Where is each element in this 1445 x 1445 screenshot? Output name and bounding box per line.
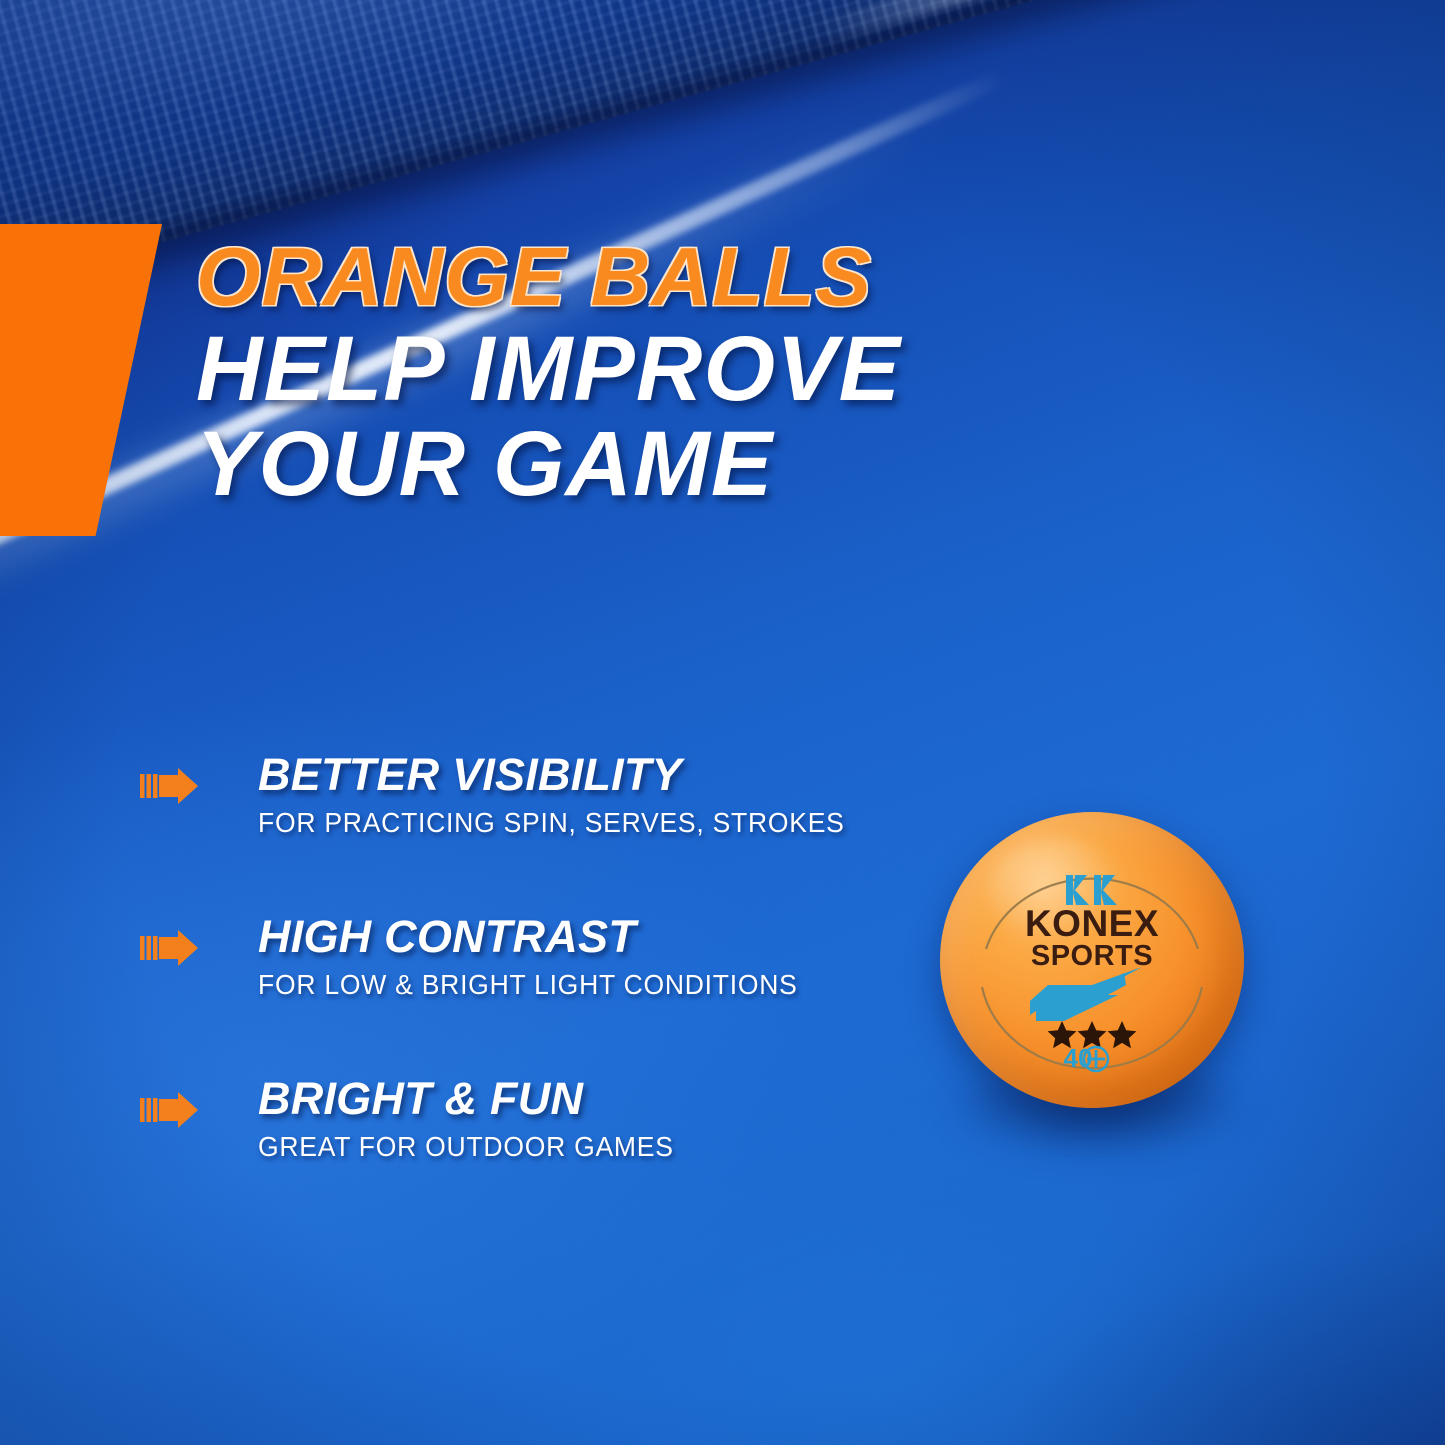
feature-item-bright-and-fun: BRIGHT & FUN GREAT FOR OUTDOOR GAMES	[140, 1076, 900, 1172]
feature-title: HIGH CONTRAST	[258, 914, 900, 960]
feature-subtitle: GREAT FOR OUTDOOR GAMES	[258, 1131, 878, 1163]
feature-text-group: BRIGHT & FUN GREAT FOR OUTDOOR GAMES	[258, 1076, 900, 1163]
headline-block: ORANGE BALLS HELP IMPROVE YOUR GAME	[196, 236, 1326, 510]
konex-bird-logo	[1030, 967, 1142, 1021]
brand-name-konex: KONEX	[1025, 903, 1159, 944]
feature-item-high-contrast: HIGH CONTRAST FOR LOW & BRIGHT LIGHT CON…	[140, 914, 900, 1010]
feature-text-group: BETTER VISIBILITY FOR PRACTICING SPIN, S…	[258, 752, 900, 839]
feature-item-better-visibility: BETTER VISIBILITY FOR PRACTICING SPIN, S…	[140, 752, 900, 848]
arrow-right-icon	[140, 1090, 200, 1130]
ball-logo-print: KONEX SPORTS 40	[974, 845, 1210, 1075]
headline-line-1: ORANGE BALLS	[196, 236, 1326, 318]
feature-list: BETTER VISIBILITY FOR PRACTICING SPIN, S…	[140, 752, 900, 1172]
headline-line-3: YOUR GAME	[196, 419, 1326, 510]
product-ball: KONEX SPORTS 40	[940, 812, 1244, 1108]
ball-size-plus-badge	[1084, 1047, 1108, 1071]
feature-title: BRIGHT & FUN	[258, 1076, 900, 1122]
arrow-right-icon	[140, 766, 200, 806]
feature-subtitle: FOR LOW & BRIGHT LIGHT CONDITIONS	[258, 969, 878, 1001]
feature-text-group: HIGH CONTRAST FOR LOW & BRIGHT LIGHT CON…	[258, 914, 900, 1001]
brand-name-sports: SPORTS	[1031, 940, 1153, 972]
product-infographic: ORANGE BALLS HELP IMPROVE YOUR GAME BETT…	[0, 0, 1445, 1445]
headline-line-2: HELP IMPROVE	[196, 324, 1326, 415]
feature-subtitle: FOR PRACTICING SPIN, SERVES, STROKES	[258, 807, 878, 839]
feature-title: BETTER VISIBILITY	[258, 752, 900, 798]
arrow-right-icon	[140, 928, 200, 968]
